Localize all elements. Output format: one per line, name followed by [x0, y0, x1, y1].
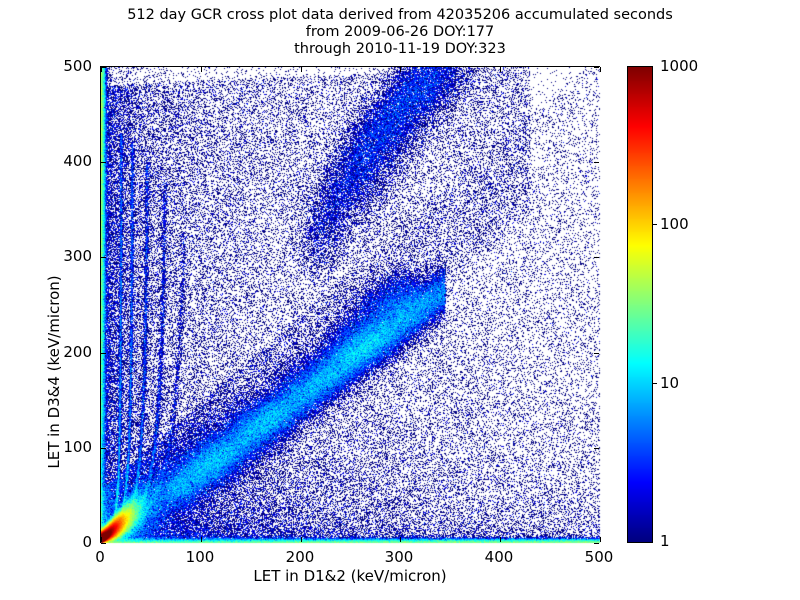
colorbar-gradient [628, 67, 652, 542]
y-tick-mark [594, 353, 599, 354]
x-tick-mark [201, 537, 202, 542]
colorbar-tick-label: 1 [660, 532, 670, 550]
y-tick-mark [101, 67, 106, 68]
y-tick-mark [594, 448, 599, 449]
x-tick-mark [400, 537, 401, 542]
y-tick-label: 0 [46, 533, 92, 551]
y-tick-mark [594, 67, 599, 68]
x-tick-mark [201, 67, 202, 72]
x-tick-label: 100 [170, 548, 230, 566]
figure-title-line2: from 2009-06-26 DOY:177 [0, 24, 800, 41]
y-tick-mark [594, 162, 599, 163]
plot-figure: 512 day GCR cross plot data derived from… [0, 0, 800, 600]
x-tick-label: 400 [469, 548, 529, 566]
y-axis-title: LET in D3&4 (keV/micron) [45, 262, 63, 482]
x-tick-label: 500 [569, 548, 629, 566]
x-tick-mark [600, 537, 601, 542]
colorbar-title-wrap: Counts [700, 66, 730, 543]
density-scatter-canvas [101, 67, 601, 544]
figure-title-line3: through 2010-11-19 DOY:323 [0, 41, 800, 58]
colorbar-tick-mark [653, 383, 657, 384]
x-tick-mark [600, 67, 601, 72]
colorbar-tick-label: 10 [660, 374, 679, 392]
x-tick-mark [500, 67, 501, 72]
figure-title-line1: 512 day GCR cross plot data derived from… [0, 7, 800, 24]
y-tick-label: 500 [46, 57, 92, 75]
x-tick-label: 300 [369, 548, 429, 566]
x-tick-mark [101, 537, 102, 542]
y-tick-label: 400 [46, 152, 92, 170]
x-tick-mark [500, 537, 501, 542]
plot-area[interactable] [100, 66, 600, 543]
y-tick-mark [101, 448, 106, 449]
colorbar-tick-label: 100 [660, 215, 689, 233]
colorbar[interactable] [627, 66, 653, 543]
x-tick-mark [400, 67, 401, 72]
y-tick-mark [101, 543, 106, 544]
x-tick-mark [301, 537, 302, 542]
y-axis-title-wrap: LET in D3&4 (keV/micron) [14, 66, 44, 543]
y-tick-mark [101, 162, 106, 163]
y-tick-mark [594, 257, 599, 258]
y-tick-mark [101, 353, 106, 354]
y-tick-mark [594, 543, 599, 544]
x-tick-mark [301, 67, 302, 72]
x-axis-title: LET in D1&2 (keV/micron) [100, 567, 600, 585]
y-tick-mark [101, 257, 106, 258]
colorbar-tick-label: 1000 [660, 57, 698, 75]
colorbar-tick-mark [653, 224, 657, 225]
figure-title: 512 day GCR cross plot data derived from… [0, 7, 800, 58]
x-tick-label: 200 [270, 548, 330, 566]
